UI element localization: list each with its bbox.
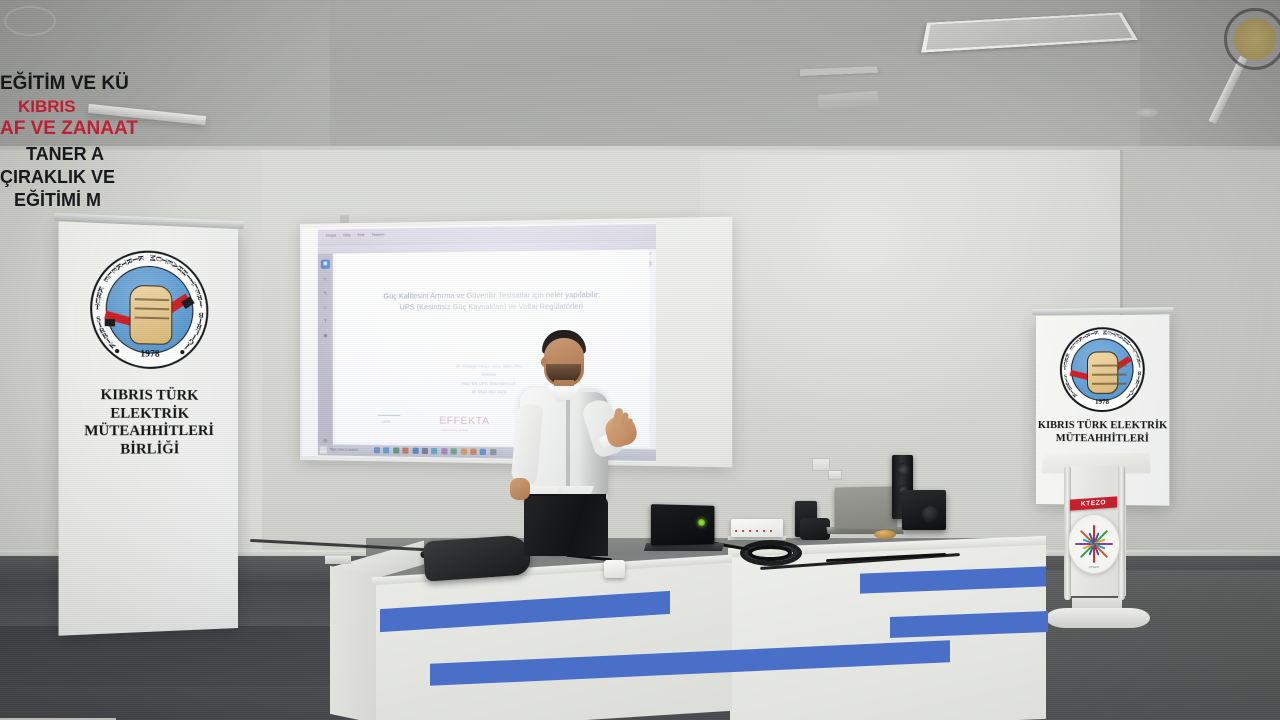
- org-name-line: MÜTEAHHİTLERİ: [59, 423, 238, 441]
- wall-outlet[interactable]: [828, 470, 842, 480]
- logo-year: 1978: [1060, 398, 1145, 406]
- state-seal-emblem: [1234, 18, 1276, 60]
- presenter-left-hand: [510, 478, 530, 500]
- banner-text-block: EĞİTİM VE KÜ KIBRIS AF VE ZANAAT TANER A…: [0, 74, 150, 209]
- laptop-primary[interactable]: [651, 504, 715, 546]
- smoke-detector-icon: [1136, 108, 1158, 117]
- banner-line: EĞİTİMİ M: [0, 191, 150, 209]
- wifi-router[interactable]: [731, 519, 783, 537]
- seminar-room-photo: Dosya Giriş Ekle Tasarım ▣ ↖ ✎ ◇ T ◉ ⚙ S…: [0, 0, 1280, 720]
- wall-data-plate[interactable]: [812, 458, 830, 471]
- lectern: KTEZO KTEZO: [1040, 452, 1156, 628]
- rollup-banner-left: KIBRIS TÜRK ELEKTRİK MÜTEAHHİTLERİ BİRLİ…: [59, 220, 238, 636]
- coiled-cable-inner: [748, 545, 792, 561]
- banner-org-name: KIBRIS TÜRK ELEKTRİK MÜTEAHHİTLERİ BİRLİ…: [59, 386, 238, 459]
- fist-icon: [1087, 351, 1118, 394]
- lectern-rail: [1118, 466, 1125, 600]
- banner-watermark: [4, 6, 56, 36]
- banner-line: EĞİTİM VE KÜ: [0, 74, 150, 93]
- laptop-lid-logo-icon: [698, 519, 705, 526]
- brass-knob[interactable]: [874, 530, 896, 539]
- emblem-caption: KTEZO: [1069, 565, 1119, 569]
- shirt-placket: [566, 400, 570, 496]
- banner-line: TANER A: [0, 145, 150, 163]
- banner-line: KIBRIS: [0, 98, 150, 115]
- org-name-line: MÜTEAHHİTLERİ: [1036, 433, 1169, 446]
- banner-line: AF VE ZANAAT: [0, 119, 150, 138]
- ktemb-logo: KIBRIS TÜRK ELEKTRİK MÜTEAHHİTLERİ BİRLİ…: [1060, 327, 1145, 412]
- screen-mount: [340, 215, 349, 223]
- banner-top-rail: [1032, 307, 1173, 315]
- speaker-driver: [896, 463, 909, 476]
- presenter-trousers: [524, 496, 608, 556]
- desk-front-panel: [376, 561, 732, 720]
- banner-org-name: KIBRIS TÜRK ELEKTRİK MÜTEAHHİTLERİ: [1036, 420, 1169, 446]
- floor-cable-plate: [325, 556, 351, 564]
- presenter-person: [496, 330, 646, 556]
- logo-year: 1978: [90, 349, 208, 361]
- org-name-line: KIBRIS TÜRK ELEKTRİK: [1036, 420, 1169, 433]
- microphone-pack[interactable]: [800, 518, 830, 540]
- lectern-base: [1046, 608, 1150, 628]
- subwoofer-port: [922, 506, 939, 523]
- power-adapter[interactable]: [604, 560, 625, 578]
- ktemb-logo: KIBRIS TÜRK ELEKTRİK MÜTEAHHİTLERİ BİRLİ…: [90, 248, 208, 369]
- org-name-line: KIBRIS TÜRK ELEKTRİK: [59, 386, 238, 423]
- banner-line: ÇIRAKLIK VE: [0, 168, 150, 186]
- laptop-secondary[interactable]: [835, 486, 898, 529]
- compass-star-emblem: KTEZO: [1068, 514, 1120, 574]
- org-name-line: BİRLİĞİ: [59, 441, 238, 460]
- fist-icon: [129, 285, 172, 345]
